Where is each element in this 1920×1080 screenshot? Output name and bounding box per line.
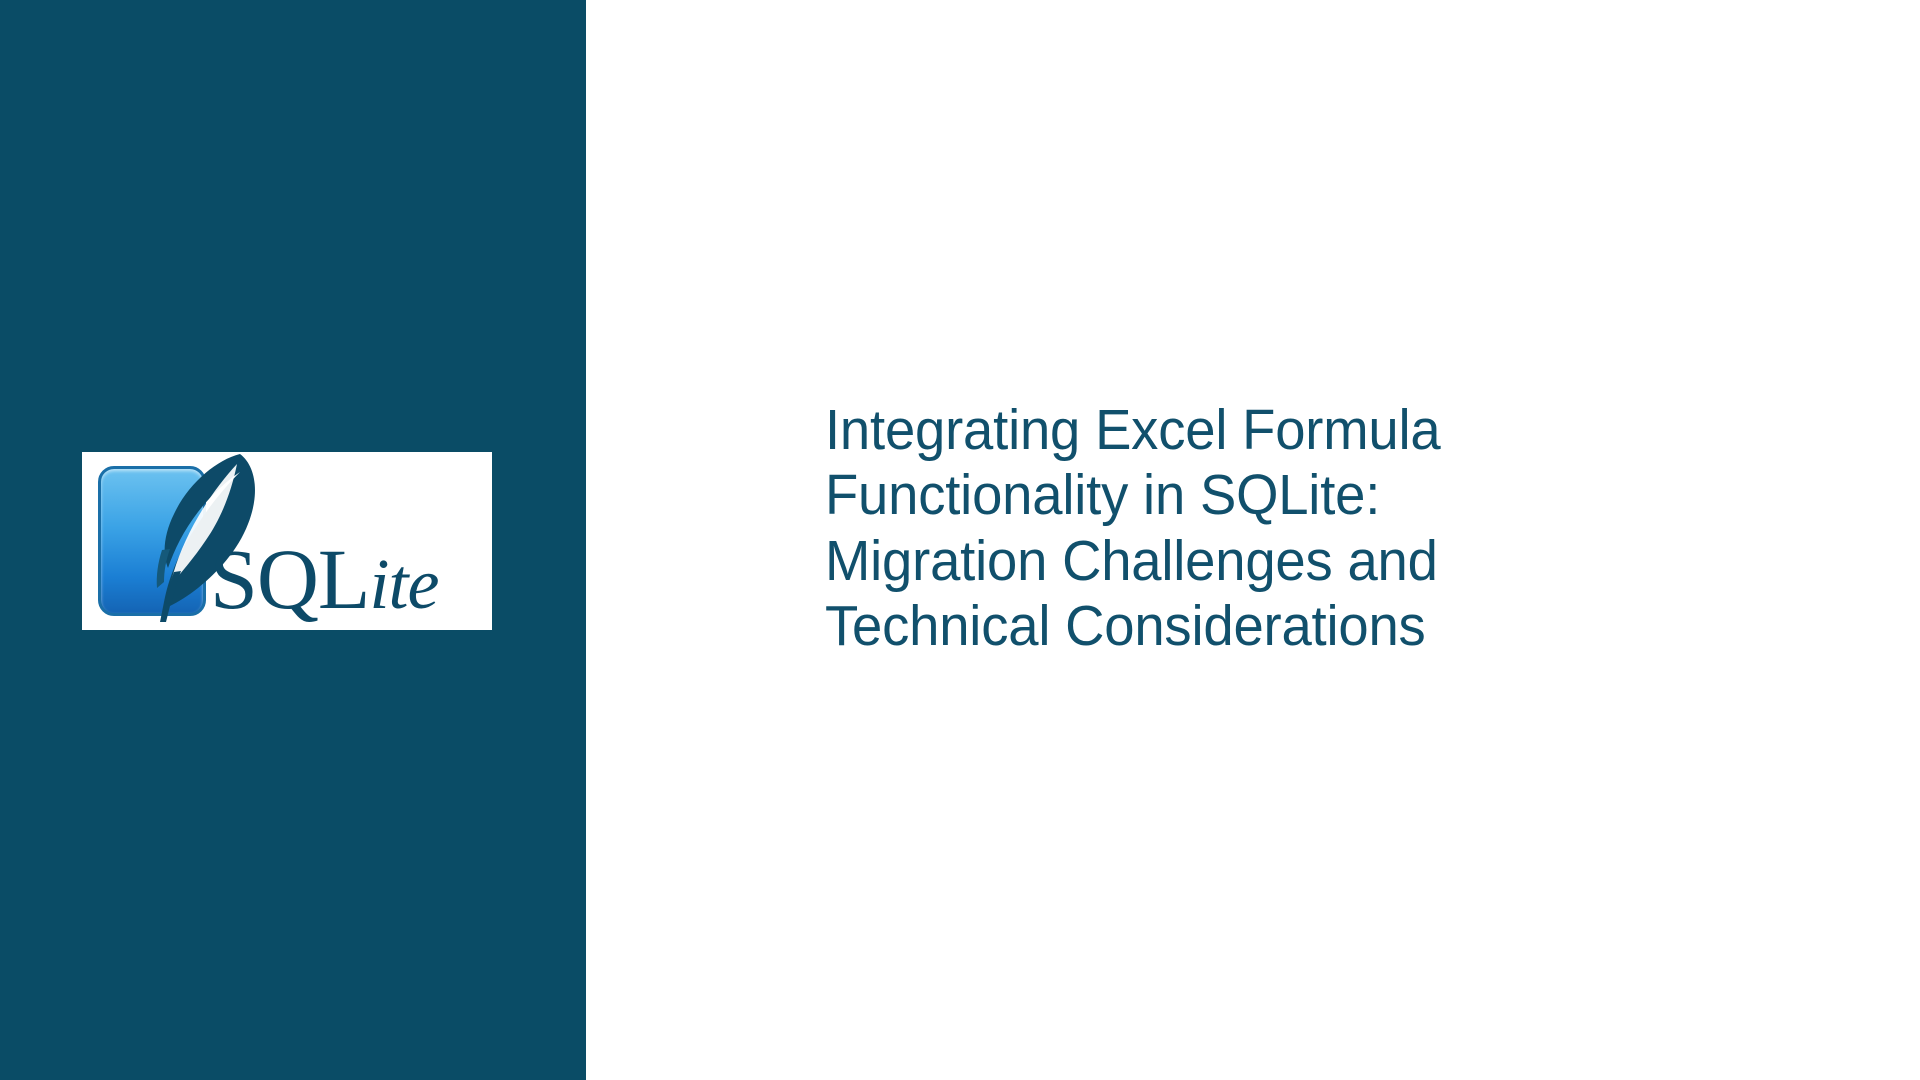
- sidebar-panel: SQLite: [0, 0, 586, 1080]
- logo-wordmark: SQLite: [210, 536, 438, 622]
- logo-wordmark-sql: SQL: [210, 531, 369, 627]
- logo-wordmark-ite: ite: [369, 544, 438, 624]
- page-title: Integrating Excel Formula Functionality …: [825, 398, 1522, 659]
- title-block: Integrating Excel Formula Functionality …: [825, 398, 1555, 659]
- sqlite-logo: SQLite: [82, 452, 492, 630]
- title-slide: SQLite Integrating Excel Formula Functio…: [0, 0, 1920, 1080]
- logo-inner: SQLite: [82, 452, 492, 630]
